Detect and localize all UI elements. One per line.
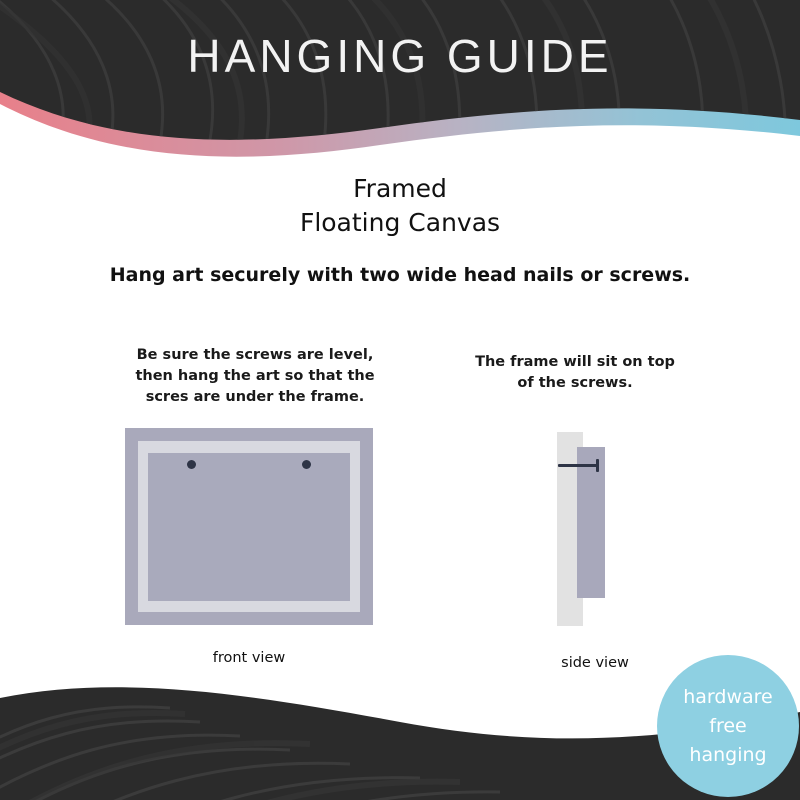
product-title: Framed Floating Canvas: [0, 172, 800, 240]
screw-dot-left: [187, 460, 196, 469]
screw-dot-right: [302, 460, 311, 469]
front-view-caption-line-1: Be sure the screws are level,: [110, 345, 400, 366]
nail-head-icon: [596, 459, 599, 472]
page-title: HANGING GUIDE: [0, 28, 800, 84]
badge-line-1: hardware: [683, 683, 773, 712]
header-wave-graphic: [0, 0, 800, 170]
badge-line-2: free: [709, 712, 746, 741]
front-view-mat: [138, 441, 360, 612]
side-view-caption-line-2: of the screws.: [450, 373, 700, 394]
side-view-diagram: [540, 428, 650, 628]
front-view-canvas: [148, 453, 350, 601]
front-view-diagram: [125, 428, 373, 625]
nail-shaft-icon: [558, 464, 598, 467]
hardware-free-badge: hardware free hanging: [657, 655, 799, 797]
front-view-caption: Be sure the screws are level, then hang …: [110, 345, 400, 408]
front-view-caption-line-3: scres are under the frame.: [110, 387, 400, 408]
front-view-caption-line-2: then hang the art so that the: [110, 366, 400, 387]
badge-line-3: hanging: [689, 741, 766, 770]
header-band: HANGING GUIDE: [0, 0, 800, 170]
product-title-line-1: Framed: [353, 174, 447, 203]
side-view-frame: [577, 447, 605, 598]
side-view-caption-line-1: The frame will sit on top: [450, 352, 700, 373]
instruction-subtitle: Hang art securely with two wide head nai…: [0, 262, 800, 288]
hanging-guide-page: HANGING GUIDE Framed Floating Canvas Han…: [0, 0, 800, 800]
side-view-caption: The frame will sit on top of the screws.: [450, 352, 700, 394]
product-title-line-2: Floating Canvas: [0, 206, 800, 240]
